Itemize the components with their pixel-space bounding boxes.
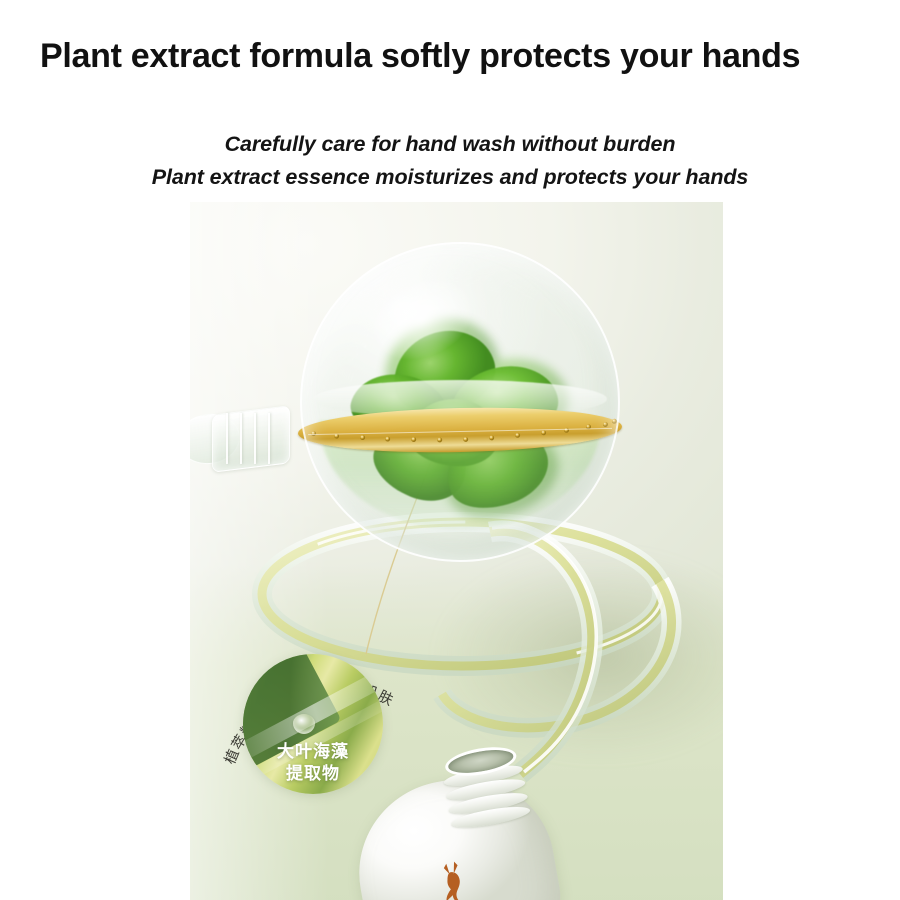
- bottle-neck: [439, 742, 533, 841]
- product-image-panel: 植萃精华 润护双手娇嫩肌肤 大叶海藻 提取物: [190, 202, 723, 900]
- deer-logo: [433, 858, 473, 900]
- nozzle-body: [212, 405, 290, 473]
- subtitle-line-2: Plant extract essence moisturizes and pr…: [0, 161, 900, 194]
- ingredient-badge: 大叶海藻 提取物: [243, 654, 383, 794]
- subtitle-line-1: Carefully care for hand wash without bur…: [0, 128, 900, 161]
- ingredient-label-line-1: 大叶海藻: [243, 741, 383, 763]
- sphere-nozzle: [212, 410, 290, 468]
- ingredient-label-line-2: 提取物: [243, 763, 383, 785]
- glass-sphere: [300, 242, 620, 562]
- page-title: Plant extract formula softly protects yo…: [40, 36, 870, 76]
- ingredient-label: 大叶海藻 提取物: [243, 741, 383, 785]
- subtitle-block: Carefully care for hand wash without bur…: [0, 128, 900, 193]
